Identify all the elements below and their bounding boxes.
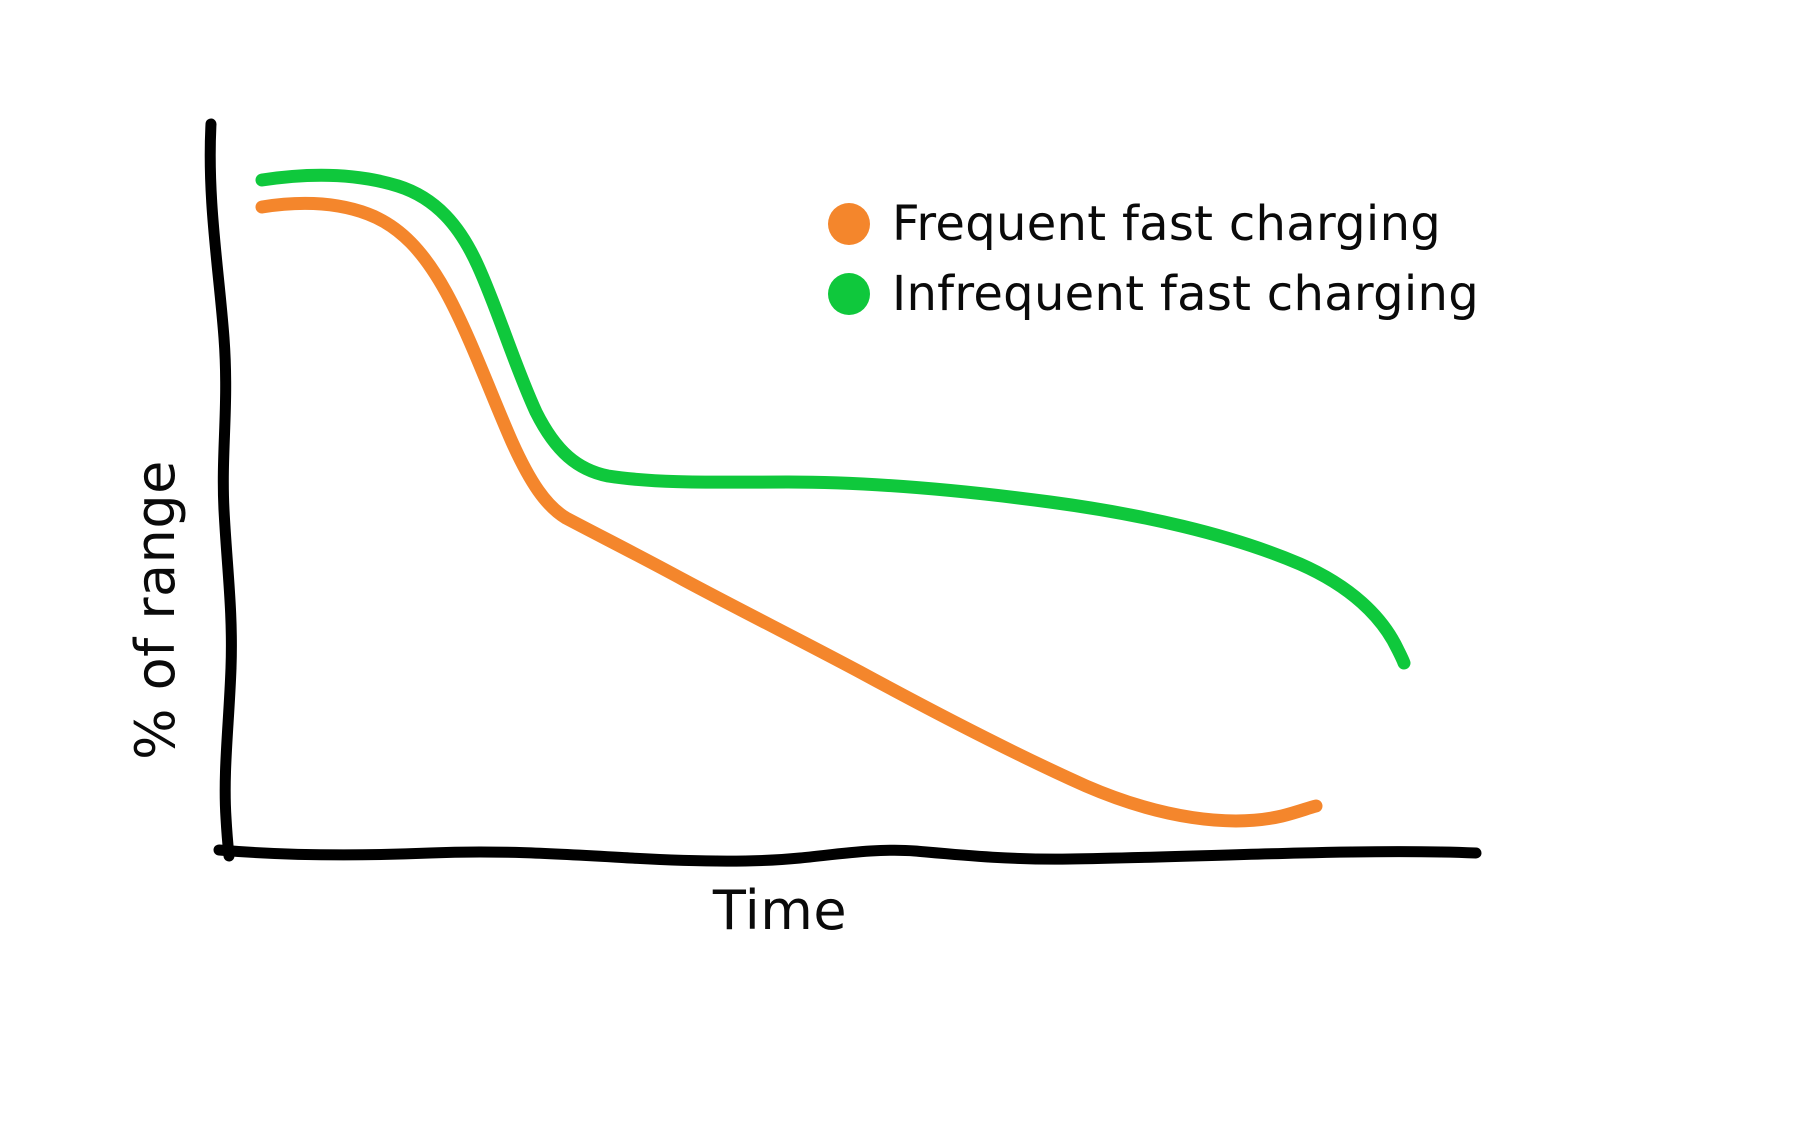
chart-legend: Frequent fast charging Infrequent fast c… <box>828 198 1479 320</box>
y-axis-title: % of range <box>96 440 216 780</box>
chart-canvas: % of range Time Frequent fast charging I… <box>0 0 1814 1143</box>
chart-plot-area <box>0 0 1814 1143</box>
dot-marker-icon <box>828 273 870 315</box>
x-axis-title: Time <box>0 884 1560 938</box>
legend-item-label: Infrequent fast charging <box>892 270 1479 318</box>
y-axis-title-text: % of range <box>129 460 183 760</box>
legend-item-frequent-fast-charging[interactable]: Frequent fast charging <box>828 198 1479 250</box>
legend-item-label: Frequent fast charging <box>892 200 1441 248</box>
x-axis-line <box>219 850 1476 861</box>
dot-marker-icon <box>828 203 870 245</box>
legend-item-infrequent-fast-charging[interactable]: Infrequent fast charging <box>828 268 1479 320</box>
